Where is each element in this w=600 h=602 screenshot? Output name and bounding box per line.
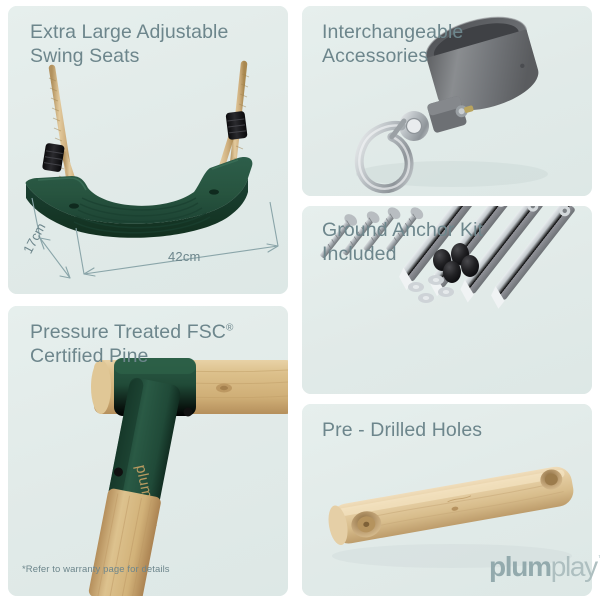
panel-pine-heading: Pressure Treated FSC®Certified Pine: [30, 320, 233, 368]
registered-trademark-symbol: ®: [226, 323, 233, 334]
logo-text-plum: plum: [489, 551, 551, 583]
panel-ground-anchor-kit: Ground Anchor Kit Included: [302, 206, 592, 394]
dimension-label-width: 42cm: [168, 249, 201, 264]
panel-interchangeable-accessories: Interchangeable Accessories: [302, 6, 592, 196]
plumplay-logo: plumplay™: [489, 551, 600, 583]
warranty-footnote: *Refer to warranty page for details: [22, 564, 170, 575]
logo-text-play: play: [551, 551, 597, 583]
panel-accessory-heading: Interchangeable Accessories: [322, 20, 463, 68]
panel-swing-heading: Extra Large Adjustable Swing Seats: [30, 20, 228, 68]
infographic-board: Extra Large Adjustable Swing Seats 42cm …: [0, 0, 600, 602]
panel-anchor-heading: Ground Anchor Kit Included: [322, 218, 483, 266]
panel-swing-seats: Extra Large Adjustable Swing Seats 42cm …: [8, 6, 288, 294]
panel-pressure-treated-pine: plumplay Pressure Treated FSC®Certified …: [8, 306, 288, 596]
panel-holes-heading: Pre - Drilled Holes: [322, 418, 482, 442]
